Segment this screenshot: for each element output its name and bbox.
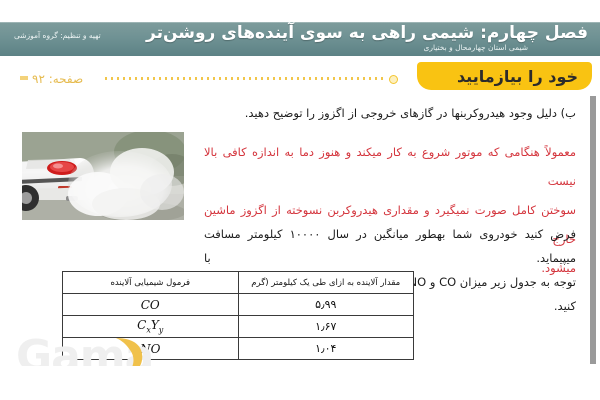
table-row: ۱٫۶۷ CxYy <box>63 316 414 338</box>
cell-formula-co: CO <box>63 294 239 316</box>
car-exhaust-photo <box>22 132 184 220</box>
cell-formula-cxyy: CxYy <box>63 316 239 338</box>
banner-tab: خود را بیازمایید <box>417 62 592 90</box>
cell-amount-no: ۱٫۰۴ <box>238 338 414 360</box>
problem-line-1: فرض کنید خودروی شما بهطور میانگین در سال… <box>204 222 576 270</box>
table-row: ۱٫۰۴ NO <box>63 338 414 360</box>
table-header-amount: مقدار آلاینده به ازای طی یک کیلومتر (گرم <box>238 272 414 294</box>
header-credit: تهیه و تنظیم: گروه آموزشی <box>14 31 101 40</box>
cell-formula-no: NO <box>63 338 239 360</box>
page-marker-icon <box>20 76 28 80</box>
cell-amount-co: ۵٫۹۹ <box>238 294 414 316</box>
cell-amount-cxyy: ۱٫۶۷ <box>238 316 414 338</box>
pollutant-table-wrapper: مقدار آلاینده به ازای طی یک کیلومتر (گرم… <box>62 271 414 360</box>
bottom-white-area <box>0 366 600 400</box>
table-header-formula: فرمول شیمیایی آلاینده <box>63 272 239 294</box>
pollutant-table: مقدار آلاینده به ازای طی یک کیلومتر (گرم… <box>62 271 414 360</box>
table-header-row: مقدار آلاینده به ازای طی یک کیلومتر (گرم… <box>63 272 414 294</box>
formula-y-sub: y <box>159 326 164 335</box>
formula-y: Y <box>151 318 159 332</box>
header-subtitle: شیمی استان چهارمحال و بختیاری <box>423 43 528 52</box>
answer-line-1: معمولاً هنگامی که موتور شروع به کار میکن… <box>204 138 576 196</box>
table-row: ۵٫۹۹ CO <box>63 294 414 316</box>
slide-root: فصل چهارم: شیمی راهی به سوی آینده‌های رو… <box>0 0 600 400</box>
page-title: فصل چهارم: شیمی راهی به سوی آینده‌های رو… <box>146 23 588 43</box>
car-photo-graphic <box>22 132 184 220</box>
banner-label: خود را بیازمایید <box>457 67 578 86</box>
banner-bullet-icon <box>389 75 398 84</box>
top-white-strip <box>0 0 600 22</box>
banner-dotted-rule <box>105 77 386 80</box>
question-text: ب) دلیل وجود هیدروکربنها در گازهای خروجی… <box>24 104 576 122</box>
right-side-bar <box>590 96 596 364</box>
section-banner: خود را بیازمایید <box>0 62 600 92</box>
header-band: فصل چهارم: شیمی راهی به سوی آینده‌های رو… <box>0 22 600 56</box>
page-number-label: صفحه: ۹۲ <box>32 72 83 86</box>
formula-c: C <box>137 318 146 332</box>
